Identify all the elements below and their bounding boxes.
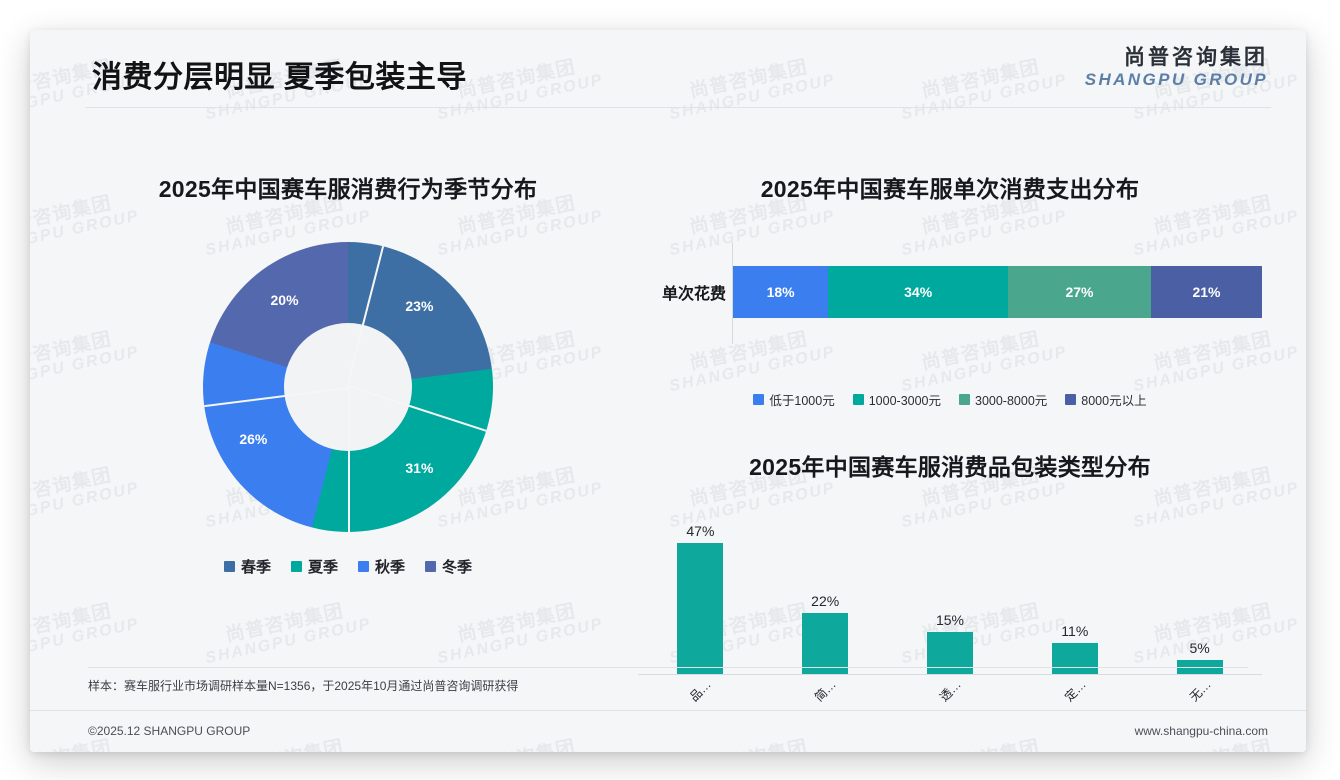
- slide-footer: ©2025.12 SHANGPU GROUP www.shangpu-china…: [30, 710, 1306, 752]
- column-bar-group[interactable]: 22%: [763, 514, 888, 674]
- column-bar-value-label: 11%: [1061, 623, 1088, 639]
- column-bar-rect[interactable]: [677, 543, 723, 674]
- legend-label: 1000-3000元: [869, 390, 941, 409]
- stacked-bar-legend-item[interactable]: 低于1000元: [753, 390, 834, 409]
- slide-header: 消费分层明显 夏季包装主导 尚普咨询集团 SHANGPU GROUP: [30, 30, 1306, 108]
- slide-content: 2025年中国赛车服消费行为季节分布 23%31%26%20% 春季夏季秋季冬季…: [30, 30, 1306, 752]
- legend-swatch: [853, 394, 864, 405]
- legend-swatch: [753, 394, 764, 405]
- footer-copyright: ©2025.12 SHANGPU GROUP: [88, 724, 250, 738]
- column-bar-group[interactable]: 47%: [638, 514, 763, 674]
- legend-label: 夏季: [308, 556, 338, 577]
- column-bar-rect[interactable]: [802, 613, 848, 674]
- column-bar-group[interactable]: 11%: [1012, 514, 1137, 674]
- column-bar-value-label: 22%: [811, 593, 839, 609]
- footer-website[interactable]: www.shangpu-china.com: [1135, 724, 1268, 738]
- legend-swatch: [1065, 394, 1076, 405]
- source-note: 样本：赛车服行业市场调研样本量N=1356，于2025年10月通过尚普咨询调研获…: [88, 667, 1248, 694]
- stacked-bar-plot: 单次花费 18%34%27%21%: [630, 242, 1270, 372]
- stacked-bar-row: 18%34%27%21%: [733, 266, 1262, 318]
- legend-swatch: [425, 561, 436, 572]
- legend-swatch: [959, 394, 970, 405]
- column-bar-group[interactable]: 5%: [1137, 514, 1262, 674]
- legend-label: 3000-8000元: [975, 390, 1047, 409]
- stacked-bar-legend-item[interactable]: 1000-3000元: [853, 390, 941, 409]
- donut-legend-item[interactable]: 春季: [224, 556, 271, 577]
- column-bar-value-label: 15%: [936, 612, 964, 628]
- stacked-bar-segment[interactable]: 21%: [1151, 266, 1262, 318]
- slide-card: 尚普咨询集团SHANGPU GROUP尚普咨询集团SHANGPU GROUP尚普…: [30, 30, 1306, 752]
- seasonal-distribution-chart: 2025年中国赛车服消费行为季节分布 23%31%26%20% 春季夏季秋季冬季: [88, 170, 608, 577]
- donut-legend: 春季夏季秋季冬季: [88, 556, 608, 577]
- donut-chart-graphic: 23%31%26%20%: [203, 242, 493, 532]
- stacked-bar-segment[interactable]: 34%: [828, 266, 1008, 318]
- donut-segment-divider: [348, 387, 350, 532]
- column-chart-title: 2025年中国赛车服消费品包装类型分布: [630, 448, 1270, 482]
- donut-value-label: 20%: [271, 292, 299, 308]
- donut-legend-item[interactable]: 夏季: [291, 556, 338, 577]
- stacked-bar-legend: 低于1000元1000-3000元3000-8000元8000元以上: [630, 390, 1270, 409]
- donut-value-label: 31%: [405, 460, 433, 476]
- legend-label: 秋季: [375, 556, 405, 577]
- legend-label: 8000元以上: [1081, 390, 1146, 409]
- donut-value-label: 23%: [405, 298, 433, 314]
- brand-logo: 尚普咨询集团 SHANGPU GROUP: [1085, 46, 1268, 90]
- legend-label: 冬季: [442, 556, 472, 577]
- donut-legend-item[interactable]: 冬季: [425, 556, 472, 577]
- legend-label: 春季: [241, 556, 271, 577]
- column-bar-value-label: 5%: [1189, 640, 1209, 656]
- spend-distribution-chart: 2025年中国赛车服单次消费支出分布 单次花费 18%34%27%21% 低于1…: [630, 170, 1270, 409]
- legend-swatch: [224, 561, 235, 572]
- column-bar-group[interactable]: 15%: [888, 514, 1013, 674]
- stacked-bar-segment[interactable]: 18%: [733, 266, 828, 318]
- donut-legend-item[interactable]: 秋季: [358, 556, 405, 577]
- legend-swatch: [291, 561, 302, 572]
- logo-english-text: SHANGPU GROUP: [1085, 70, 1268, 90]
- logo-chinese-text: 尚普咨询集团: [1085, 46, 1268, 70]
- stacked-bar-legend-item[interactable]: 3000-8000元: [959, 390, 1047, 409]
- stacked-bar-chart-title: 2025年中国赛车服单次消费支出分布: [630, 170, 1270, 204]
- packaging-type-chart: 2025年中国赛车服消费品包装类型分布 47%22%15%11%5% 品…简…透…: [630, 448, 1270, 675]
- column-bars: 47%22%15%11%5%: [638, 514, 1262, 674]
- legend-label: 低于1000元: [769, 390, 834, 409]
- page-title: 消费分层明显 夏季包装主导: [92, 52, 467, 96]
- stacked-bar-segment[interactable]: 27%: [1008, 266, 1151, 318]
- stacked-bar-legend-item[interactable]: 8000元以上: [1065, 390, 1146, 409]
- column-chart-plot: 47%22%15%11%5% 品…简…透…定…无…: [630, 510, 1270, 675]
- legend-swatch: [358, 561, 369, 572]
- column-bar-value-label: 47%: [686, 523, 714, 539]
- donut-value-label: 26%: [239, 431, 267, 447]
- donut-chart-title: 2025年中国赛车服消费行为季节分布: [88, 170, 608, 204]
- stacked-bar-category-label: 单次花费: [630, 266, 726, 318]
